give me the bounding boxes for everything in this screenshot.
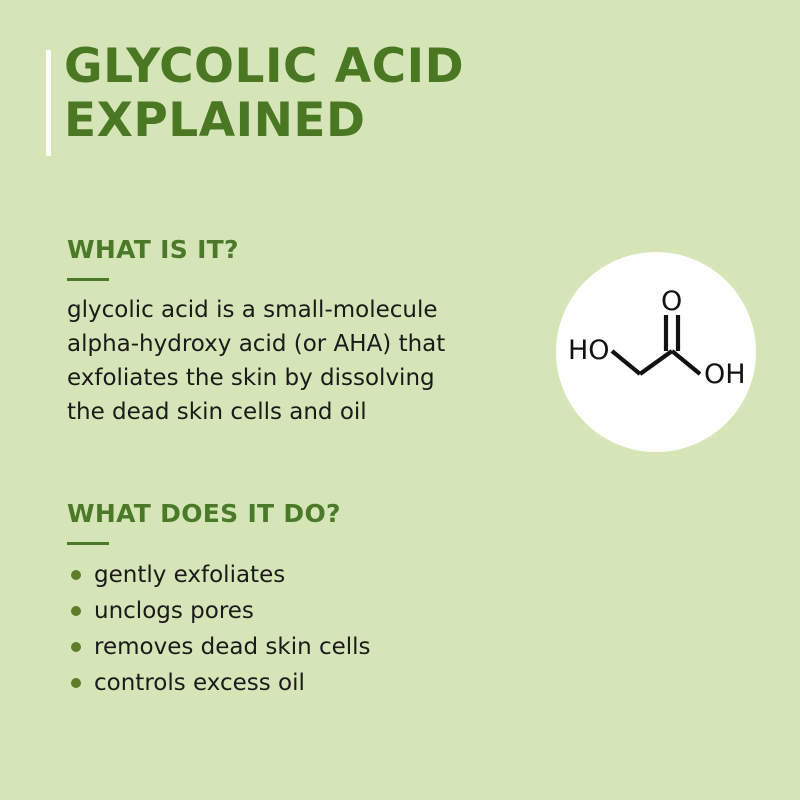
section-divider-rule — [67, 278, 109, 281]
section-heading-what-is-it: WHAT IS IT? — [67, 236, 517, 264]
molecule-circle-badge: HO O OH — [556, 252, 756, 452]
title-accent-bar — [46, 50, 51, 156]
bond-hydroxyl-to-ch2 — [612, 351, 640, 374]
page-title-line-2: EXPLAINED — [64, 94, 564, 148]
bond-ch2-to-carbonyl — [640, 351, 672, 374]
section-divider-rule — [67, 542, 109, 545]
glycolic-acid-structure-icon: HO O OH — [556, 252, 756, 452]
infographic-poster: GLYCOLIC ACID EXPLAINED WHAT IS IT? glyc… — [0, 0, 800, 800]
bullet-dot-icon — [71, 606, 81, 616]
bond-carbonyl-to-hydroxyl — [672, 351, 700, 374]
bullet-dot-icon — [71, 678, 81, 688]
page-title: GLYCOLIC ACID EXPLAINED — [64, 40, 564, 148]
atom-label-hydroxyl-left: HO — [568, 335, 610, 366]
paragraph-line: exfoliates the skin by dissolving — [67, 361, 517, 395]
list-item-label: removes dead skin cells — [94, 634, 371, 660]
atom-label-carbonyl-oxygen: O — [661, 286, 682, 317]
list-item-label: gently exfoliates — [94, 562, 285, 588]
list-item: removes dead skin cells — [67, 629, 537, 665]
paragraph-line: alpha-hydroxy acid (or AHA) that — [67, 327, 517, 361]
list-item: unclogs pores — [67, 593, 537, 629]
section-heading-what-does-it-do: WHAT DOES IT DO? — [67, 500, 537, 528]
bullet-dot-icon — [71, 642, 81, 652]
paragraph-line: the dead skin cells and oil — [67, 395, 517, 429]
list-item: gently exfoliates — [67, 557, 537, 593]
bullet-dot-icon — [71, 570, 81, 580]
list-item: controls excess oil — [67, 665, 537, 701]
benefits-list: gently exfoliates unclogs pores removes … — [67, 557, 537, 701]
atom-label-carboxyl-right: OH — [704, 359, 746, 390]
paragraph-line: glycolic acid is a small-molecule — [67, 293, 517, 327]
list-item-label: controls excess oil — [94, 670, 305, 696]
page-title-line-1: GLYCOLIC ACID — [64, 40, 564, 94]
section-what-is-it: WHAT IS IT? glycolic acid is a small-mol… — [67, 236, 517, 429]
list-item-label: unclogs pores — [94, 598, 254, 624]
section-what-does-it-do: WHAT DOES IT DO? gently exfoliates unclo… — [67, 500, 537, 701]
definition-paragraph: glycolic acid is a small-molecule alpha-… — [67, 293, 517, 429]
